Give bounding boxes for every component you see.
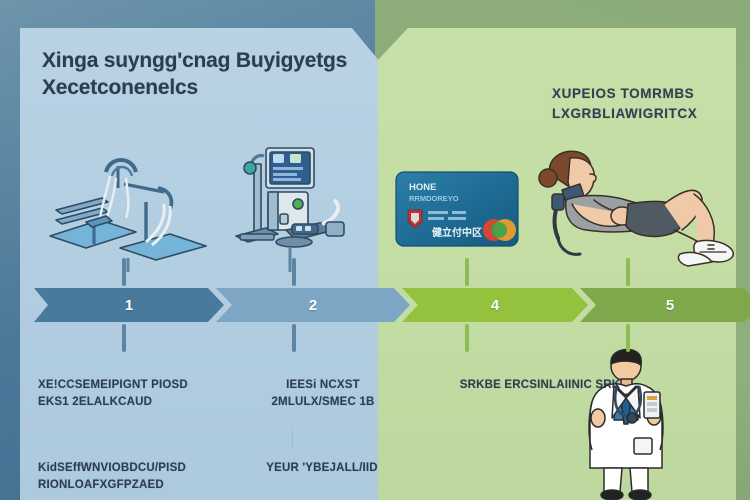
timeline-segment-2-number: 2 xyxy=(309,297,317,314)
tick-up-1 xyxy=(122,258,126,286)
timeline-bar: 1 2 4 5 xyxy=(34,288,724,322)
right-panel-title: XUPEIOS TOMRMBS LXGRBLIAWIGRITCX xyxy=(552,84,742,125)
card-brand-text: HONE xyxy=(409,182,436,193)
caption-step-1-secondary: KidSEffWNVIOBDCU/PISD RIONLOAFXGFPZAED xyxy=(38,460,228,493)
gym-machine-illustration xyxy=(40,148,215,272)
timeline-segment-1-number: 1 xyxy=(125,297,133,314)
card-subtitle-text: RRMDOREYO xyxy=(409,194,459,203)
doctor-illustration xyxy=(576,346,694,500)
timeline-segment-1[interactable]: 1 xyxy=(34,288,224,322)
timeline-segment-4-number: 4 xyxy=(491,297,499,314)
tick-down-2 xyxy=(292,324,296,352)
woman-exercising-illustration xyxy=(528,138,743,272)
tick-up-4 xyxy=(465,258,469,286)
medical-monitor-illustration xyxy=(226,142,356,272)
caption-step-2: IEESi NCXST 2MLULX/SMEC 1B xyxy=(248,377,398,410)
bank-card-illustration: HONE RRMDOREYO 健立付中区 xyxy=(392,158,524,258)
timeline-segment-4[interactable]: 4 xyxy=(402,288,588,322)
infographic-canvas: Xinga suyngg'cnag Buyigyetgs Xecetconene… xyxy=(0,0,750,500)
timeline-segment-5-number: 5 xyxy=(666,297,674,314)
card-bank-line: 健立付中区 xyxy=(432,226,482,239)
tick-up-2 xyxy=(292,258,296,286)
left-panel-title: Xinga suyngg'cnag Buyigyetgs Xecetconene… xyxy=(42,48,362,102)
timeline-segment-2[interactable]: 2 xyxy=(216,288,410,322)
tick-down-4 xyxy=(465,324,469,352)
caption-step-2-secondary: YEUR 'YBEJALL/IID xyxy=(262,460,382,477)
caption-step-1: XE!CCSEMEIPIGNT PIOSD EKS1 2ELALKCAUD xyxy=(38,377,218,410)
caption-divider xyxy=(292,430,293,448)
caption-step-4: SRKBE ERCSINLAIINIC SRK xyxy=(455,377,625,394)
tick-up-5 xyxy=(626,258,630,286)
tick-down-1 xyxy=(122,324,126,352)
tick-down-5 xyxy=(626,324,630,352)
timeline-segment-5[interactable]: 5 xyxy=(580,288,750,322)
